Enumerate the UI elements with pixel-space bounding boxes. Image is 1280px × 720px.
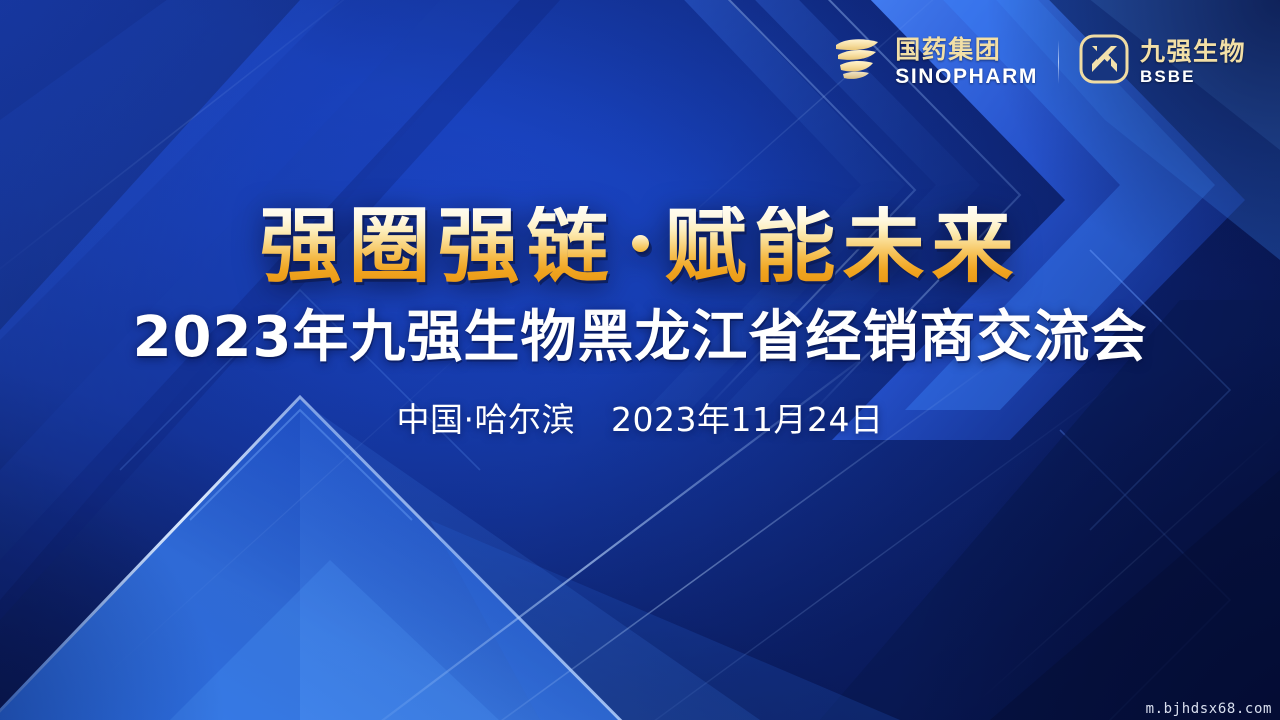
sinopharm-ribbon-icon — [830, 34, 884, 89]
dot-separator-icon — [632, 235, 649, 252]
event-subtitle: 2023年九强生物黑龙江省经销商交流会 — [133, 308, 1148, 367]
logo-sinopharm: 国药集团 SINOPHARM — [830, 34, 1038, 89]
logo-bar: 国药集团 SINOPHARM 九强生物 BSBE — [830, 34, 1246, 89]
event-banner: 国药集团 SINOPHARM 九强生物 BSBE — [0, 0, 1280, 720]
main-title-part1: 强圈强链 — [259, 199, 615, 294]
logo-divider — [1058, 40, 1059, 84]
main-title: 强圈强链赋能未来 — [259, 206, 1020, 288]
logo-bsbe: 九强生物 BSBE — [1079, 34, 1246, 89]
main-title-part2: 赋能未来 — [665, 199, 1021, 294]
banner-content: 强圈强链赋能未来 2023年九强生物黑龙江省经销商交流会 中国·哈尔滨2023年… — [0, 0, 1280, 720]
bsbe-name-en: BSBE — [1140, 68, 1246, 85]
bsbe-square-icon — [1079, 34, 1129, 89]
sinopharm-name-cn: 国药集团 — [895, 37, 1038, 62]
event-location: 中国·哈尔滨 — [397, 400, 576, 439]
event-date: 2023年11月24日 — [611, 400, 883, 439]
sinopharm-name-en: SINOPHARM — [895, 66, 1038, 87]
event-meta: 中国·哈尔滨2023年11月24日 — [397, 393, 884, 441]
bsbe-name-cn: 九强生物 — [1140, 39, 1246, 64]
watermark: m.bjhdsx68.com — [1146, 701, 1272, 717]
